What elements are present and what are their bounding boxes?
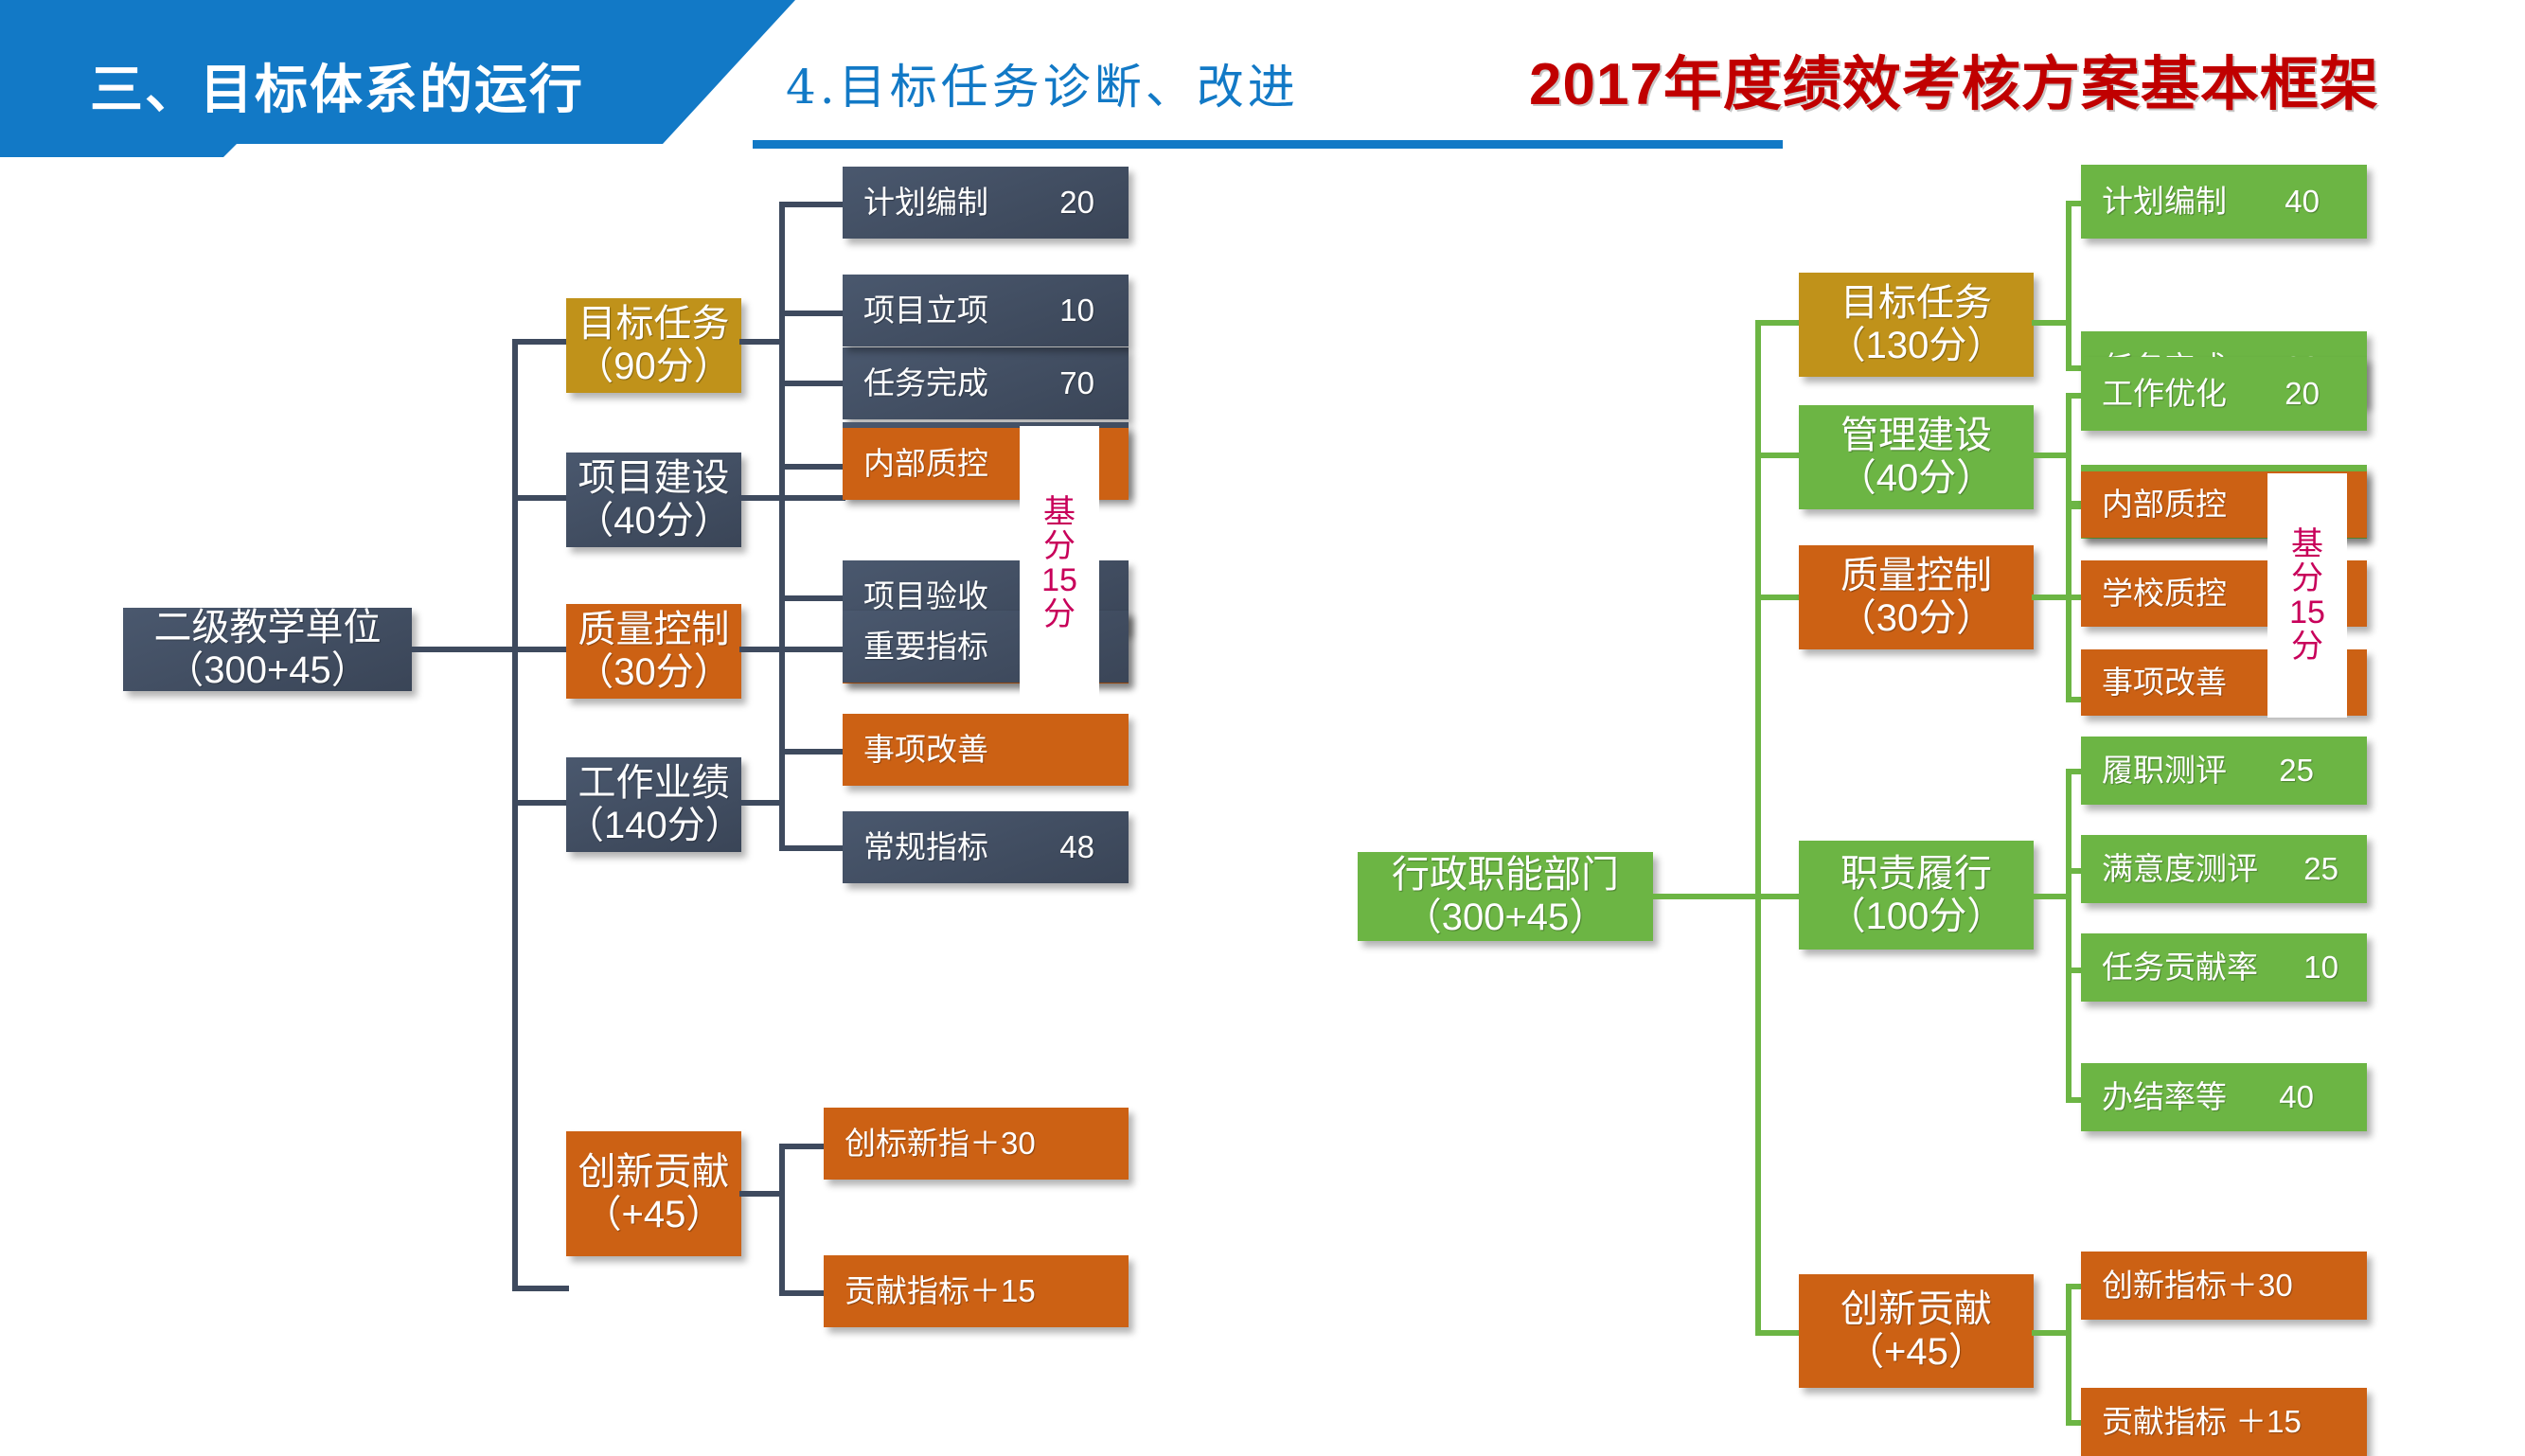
left-leaf-5-2[interactable]: 贡献指标＋15 <box>824 1255 1129 1327</box>
leaf-label: 事项改善 <box>863 733 988 768</box>
left-cat4-child1-line <box>779 647 845 652</box>
leaf-label: 创标新指＋30 <box>845 1127 1036 1162</box>
leaf-label: 创新指标＋30 <box>2102 1269 2293 1304</box>
right-category-2[interactable]: 管理建设 （40分） <box>1799 405 2034 509</box>
right-root-connector <box>1653 894 1759 899</box>
right-leaf-1-1[interactable]: 计划编制 40 <box>2081 165 2367 239</box>
right-leaf-4-3[interactable]: 任务贡献率 10 <box>2081 933 2367 1002</box>
right-category-5[interactable]: 创新贡献 （+45） <box>1799 1274 2034 1388</box>
left-root-node[interactable]: 二级教学单位 （300+45） <box>123 608 412 691</box>
left-cat4-child2-line <box>779 845 845 851</box>
leaf-label: 事项改善 <box>2102 666 2227 701</box>
base-score-line-2: 分 <box>2291 562 2323 595</box>
leaf-label: 满意度测评 <box>2102 852 2258 887</box>
left-cat5-bus <box>779 1144 785 1296</box>
right-cat5-bus <box>2066 1284 2072 1426</box>
left-branch-stub-1 <box>512 339 569 345</box>
right-root-node[interactable]: 行政职能部门 （300+45） <box>1358 852 1653 941</box>
left-leaf-1-2[interactable]: 任务完成 70 <box>843 347 1129 419</box>
left-category-1[interactable]: 目标任务 （90分） <box>566 298 741 393</box>
leaf-label: 内部质控 <box>2102 488 2227 523</box>
leaf-label: 履职测评 <box>2102 754 2227 789</box>
left-category-5[interactable]: 创新贡献 （+45） <box>566 1131 741 1256</box>
leaf-value: 70 <box>1059 366 1094 401</box>
leaf-label: 贡献指标＋15 <box>845 1274 1036 1309</box>
left-branch-stub-3 <box>512 647 569 652</box>
left-leaf-4-2[interactable]: 常规指标 48 <box>843 811 1129 883</box>
leaf-label: 工作优化 <box>2102 377 2227 412</box>
leaf-value: 25 <box>2303 852 2338 887</box>
page-title: 2017年度绩效考核方案基本框架 <box>1529 36 2379 121</box>
left-cat4-bus <box>779 647 785 851</box>
right-category-3[interactable]: 质量控制 （30分） <box>1799 545 2034 649</box>
left-cat1-child2-line <box>779 381 845 386</box>
left-leaf-5-1[interactable]: 创标新指＋30 <box>824 1108 1129 1180</box>
right-leaf-4-4[interactable]: 办结率等 40 <box>2081 1063 2367 1131</box>
leaf-value: 20 <box>2285 377 2320 412</box>
base-score-line-1: 基 <box>2291 528 2323 560</box>
right-cat1-bus <box>2066 201 2072 371</box>
right-branch-stub-2 <box>1755 453 1803 458</box>
leaf-label: 计划编制 <box>863 186 988 221</box>
leaf-label: 重要指标 <box>863 630 988 665</box>
right-leaf-5-1[interactable]: 创新指标＋30 <box>2081 1252 2367 1320</box>
left-cat2-child1-line <box>779 311 845 316</box>
left-cat4-out <box>739 800 783 806</box>
leaf-value: 20 <box>1059 186 1094 221</box>
right-leaf-5-2[interactable]: 贡献指标 ＋15 <box>2081 1388 2367 1456</box>
leaf-value: 48 <box>1059 830 1094 865</box>
left-category-4[interactable]: 工作业绩 （140分） <box>566 757 741 852</box>
header-subsection-label: 4.目标任务诊断、改进 <box>786 49 1299 117</box>
leaf-label: 学校质控 <box>2102 577 2227 612</box>
leaf-value: 25 <box>2279 754 2314 789</box>
right-cat1-out <box>2032 320 2070 326</box>
right-category-1[interactable]: 目标任务 （130分） <box>1799 273 2034 377</box>
diagram-canvas: 二级教学单位 （300+45） 目标任务 （90分） 计划编制 20 任务完成 … <box>0 151 2525 1421</box>
leaf-label: 内部质控 <box>863 447 988 482</box>
left-cat5-child2-line <box>779 1290 827 1296</box>
right-branch-stub-4 <box>1755 894 1803 899</box>
leaf-label: 项目立项 <box>863 293 988 328</box>
leaf-label: 计划编制 <box>2102 185 2227 220</box>
base-score-line-4: 分 <box>1043 598 1076 630</box>
leaf-label: 项目验收 <box>863 579 988 614</box>
right-branch-stub-3 <box>1755 595 1803 600</box>
left-cat1-child1-line <box>779 202 845 207</box>
right-leaf-4-2[interactable]: 满意度测评 25 <box>2081 835 2367 903</box>
base-score-line-4: 分 <box>2291 630 2323 663</box>
leaf-label: 任务贡献率 <box>2102 950 2258 985</box>
right-cat4-bus <box>2066 769 2072 1103</box>
left-cat5-out <box>739 1191 783 1197</box>
leaf-value: 40 <box>2279 1080 2314 1115</box>
left-cat3-child1-line <box>779 464 845 470</box>
base-score-line-3: 15 <box>1041 564 1077 596</box>
base-score-line-2: 分 <box>1043 530 1076 562</box>
left-leaf-2-1[interactable]: 项目立项 10 <box>843 275 1129 346</box>
left-cat3-child3-line <box>779 749 845 755</box>
leaf-value: 10 <box>1059 293 1094 328</box>
slide-header: 三、目标体系的运行 4.目标任务诊断、改进 2017年度绩效考核方案基本框架 <box>0 0 2525 151</box>
left-cat2-out <box>739 495 783 501</box>
left-base-score-note: 基 分 15 分 <box>1020 426 1099 701</box>
left-branch-stub-4 <box>512 800 569 806</box>
right-cat2-out <box>2032 453 2070 458</box>
leaf-value: 10 <box>2303 950 2338 985</box>
leaf-value: 40 <box>2285 185 2320 220</box>
left-cat2-child3-line <box>779 595 845 601</box>
right-branch-stub-5 <box>1755 1330 1803 1336</box>
leaf-label: 贡献指标 ＋15 <box>2102 1405 2302 1440</box>
right-category-4[interactable]: 职责履行 （100分） <box>1799 841 2034 950</box>
right-base-score-note: 基 分 15 分 <box>2267 473 2347 718</box>
left-cat5-child1-line <box>779 1144 827 1149</box>
left-cat2-child2-line <box>779 495 845 501</box>
left-spine-vertical <box>512 342 518 1288</box>
right-spine-vertical <box>1755 323 1761 1336</box>
left-category-2[interactable]: 项目建设 （40分） <box>566 453 741 547</box>
base-score-line-3: 15 <box>2289 596 2325 629</box>
left-root-connector <box>412 647 518 652</box>
left-branch-stub-2 <box>512 495 569 501</box>
header-underline <box>753 140 1783 149</box>
right-leaf-4-1[interactable]: 履职测评 25 <box>2081 737 2367 805</box>
leaf-label: 常规指标 <box>863 830 988 865</box>
header-section-label: 三、目标体系的运行 <box>90 47 584 124</box>
leaf-label: 任务完成 <box>863 366 988 401</box>
right-leaf-2-1[interactable]: 工作优化 20 <box>2081 357 2367 431</box>
right-cat3-bus <box>2066 504 2072 702</box>
left-cat3-out <box>739 647 783 652</box>
left-cat1-out <box>739 339 783 345</box>
left-category-3[interactable]: 质量控制 （30分） <box>566 604 741 699</box>
base-score-line-1: 基 <box>1043 496 1076 528</box>
right-cat5-out <box>2032 1330 2070 1336</box>
left-branch-stub-5 <box>512 1286 569 1291</box>
right-cat4-out <box>2032 894 2070 899</box>
left-leaf-3-3[interactable]: 事项改善 <box>843 714 1129 786</box>
right-branch-stub-1 <box>1755 320 1803 326</box>
right-cat2-bus <box>2066 393 2072 506</box>
right-cat3-out <box>2032 595 2070 600</box>
left-leaf-1-1[interactable]: 计划编制 20 <box>843 167 1129 239</box>
leaf-label: 办结率等 <box>2102 1080 2227 1115</box>
